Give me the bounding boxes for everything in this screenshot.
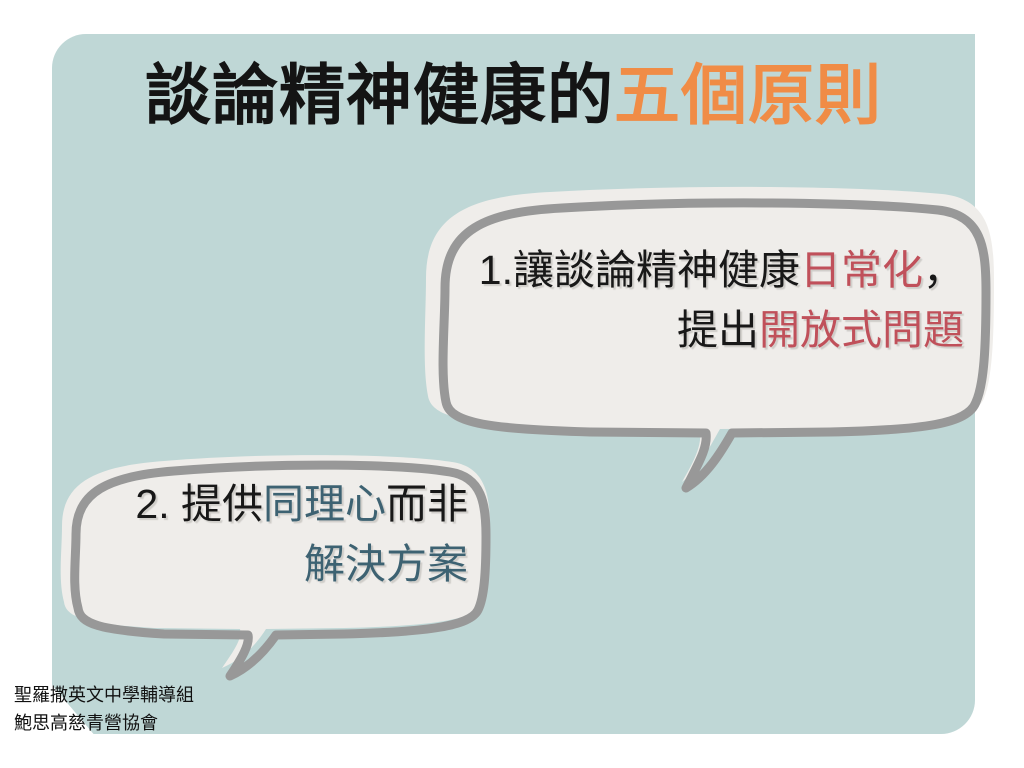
title-orange-part: 五個原則 xyxy=(614,57,882,134)
bubble-2-line-1: 2. 提供同理心而非 xyxy=(76,474,468,534)
bubble-1-line2-highlight: 開放式問題 xyxy=(759,307,964,353)
bubble-1-line1-highlight: 日常化 xyxy=(800,247,923,293)
slide-canvas: 談論精神健康的五個原則 1.讓談論精神健康日常化， 提出開放式問題 2. 提供同… xyxy=(0,0,1024,768)
bubble-1-number: 1. xyxy=(479,247,513,293)
bubble-1-line-2: 提出開放式問題 xyxy=(424,300,964,360)
bubble-2-line2-highlight: 解決方案 xyxy=(304,541,468,587)
bubble-1-text: 1.讓談論精神健康日常化， 提出開放式問題 xyxy=(424,240,964,360)
bubble-1-line1-black-b: ， xyxy=(923,247,964,293)
bubble-2-line1-black-b: 而非 xyxy=(386,481,468,527)
footer-credit: 聖羅撒英文中學輔導組 鮑思高慈青營協會 xyxy=(14,681,194,737)
bubble-2-line-2: 解決方案 xyxy=(76,534,468,594)
title-black-part: 談論精神健康的 xyxy=(145,57,614,134)
footer-line-2: 鮑思高慈青營協會 xyxy=(14,709,194,737)
bubble-2-line1-black-a: 提供 xyxy=(181,481,263,527)
footer-line-1: 聖羅撒英文中學輔導組 xyxy=(14,681,194,709)
speech-bubble-2: 2. 提供同理心而非 解決方案 xyxy=(44,452,504,667)
speech-bubble-1: 1.讓談論精神健康日常化， 提出開放式問題 xyxy=(390,182,990,492)
bubble-2-text: 2. 提供同理心而非 解決方案 xyxy=(76,474,468,594)
bubble-2-number: 2. xyxy=(135,481,169,527)
bubble-1-line-1: 1.讓談論精神健康日常化， xyxy=(424,240,964,300)
page-title: 談論精神健康的五個原則 xyxy=(52,52,975,140)
bubble-1-line1-black-a: 讓談論精神健康 xyxy=(513,247,800,293)
bubble-2-line1-highlight: 同理心 xyxy=(263,481,386,527)
bubble-1-line2-black: 提出 xyxy=(677,307,759,353)
